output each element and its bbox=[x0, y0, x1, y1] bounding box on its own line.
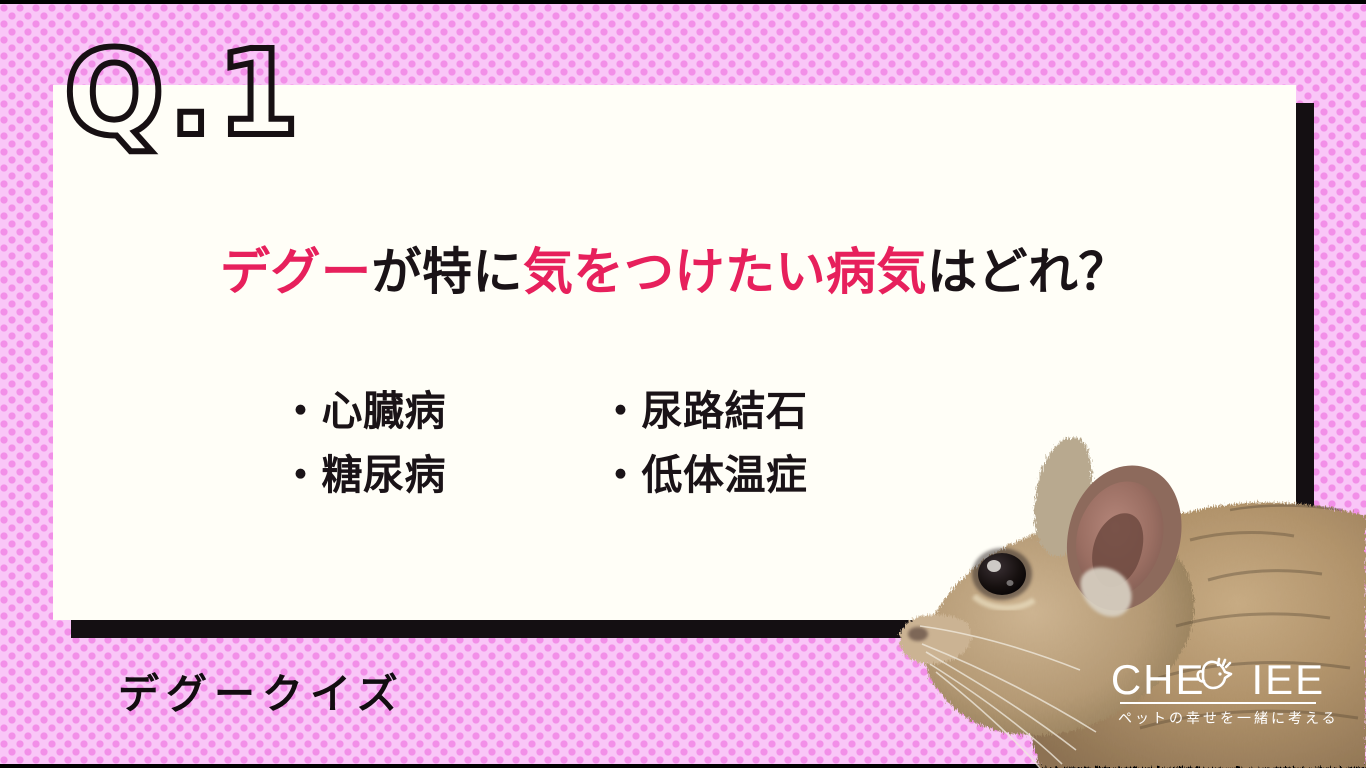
answer-marker-1: ・ bbox=[280, 388, 322, 434]
question-segment-3: 気をつけたい病気 bbox=[523, 244, 927, 300]
answer-option-4[interactable]: ・低体温症 bbox=[600, 441, 900, 501]
dog-head-icon bbox=[1190, 656, 1236, 702]
answer-marker-2: ・ bbox=[600, 388, 642, 434]
answer-label-2: 尿路結石 bbox=[642, 388, 808, 434]
answer-option-2[interactable]: ・尿路結石 bbox=[600, 377, 900, 437]
answer-label-1: 心臓病 bbox=[322, 388, 447, 434]
logo-divider bbox=[1120, 702, 1316, 704]
answer-option-1[interactable]: ・心臓病 bbox=[280, 377, 600, 437]
answer-option-list: ・心臓病 ・尿路結石 ・糖尿病 ・低体温症 bbox=[280, 375, 900, 503]
question-segment-4: はどれ？ bbox=[927, 244, 1129, 300]
question-segment-1: デグー bbox=[220, 244, 372, 300]
logo-wordmark: CHE IEE bbox=[1118, 658, 1318, 702]
answer-option-3[interactable]: ・糖尿病 bbox=[280, 441, 600, 501]
question-segment-2: が特に bbox=[372, 244, 524, 300]
logo-tagline: ペットの幸せを一緒に考える bbox=[1118, 708, 1318, 728]
quiz-slide: Q.1 デグーが特に気をつけたい病気はどれ？ ・心臓病 ・尿路結石 ・糖尿病 ・… bbox=[0, 0, 1366, 768]
cheriee-logo: CHE IEE ペットの幸せを一緒に考える bbox=[1118, 658, 1318, 736]
answer-marker-4: ・ bbox=[600, 452, 642, 498]
answer-marker-3: ・ bbox=[280, 452, 322, 498]
question-headline: デグーが特に気をつけたい病気はどれ？ bbox=[53, 244, 1296, 300]
question-number: Q.1 bbox=[64, 34, 303, 152]
answer-label-3: 糖尿病 bbox=[322, 452, 447, 498]
answer-label-4: 低体温症 bbox=[642, 452, 808, 498]
series-label: デグークイズ bbox=[118, 660, 405, 720]
